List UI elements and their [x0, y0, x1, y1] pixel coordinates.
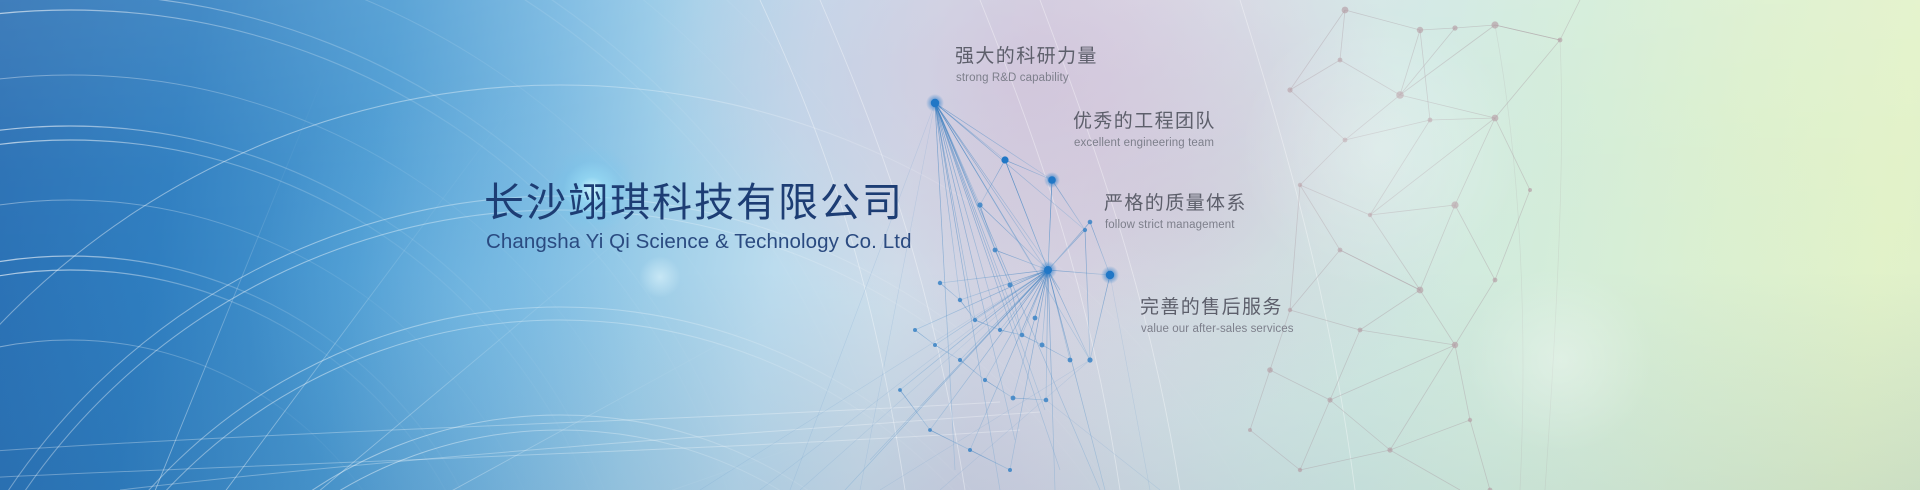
feature-label-en: strong R&D capability: [956, 71, 1098, 85]
feature-item-after-sales-service: 完善的售后服务 value our after-sales services: [1140, 296, 1294, 336]
company-banner: 长沙翊琪科技有限公司 Changsha Yi Qi Science & Tech…: [0, 0, 1920, 490]
feature-item-engineering-team: 优秀的工程团队 excellent engineering team: [1073, 110, 1216, 150]
feature-label-cn: 完善的售后服务: [1140, 296, 1294, 320]
feature-label-cn: 优秀的工程团队: [1073, 110, 1216, 134]
feature-label-en: follow strict management: [1105, 218, 1247, 232]
company-name-english: Changsha Yi Qi Science & Technology Co. …: [486, 230, 914, 255]
company-title-block: 长沙翊琪科技有限公司 Changsha Yi Qi Science & Tech…: [484, 181, 914, 254]
company-name-chinese: 长沙翊琪科技有限公司: [484, 181, 914, 226]
feature-label-cn: 严格的质量体系: [1104, 192, 1247, 216]
feature-label-en: excellent engineering team: [1074, 136, 1216, 150]
feature-item-rd-capability: 强大的科研力量 strong R&D capability: [955, 45, 1098, 85]
feature-label-cn: 强大的科研力量: [955, 45, 1098, 69]
feature-item-quality-system: 严格的质量体系 follow strict management: [1104, 192, 1247, 232]
feature-label-en: value our after-sales services: [1141, 322, 1294, 336]
